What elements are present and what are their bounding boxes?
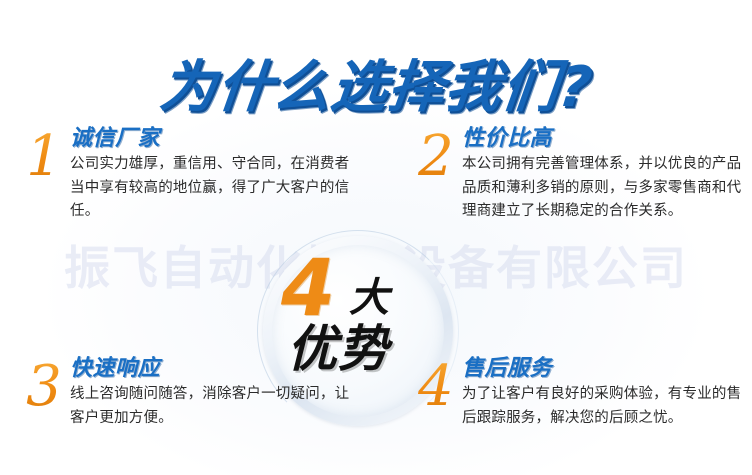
feature-block-3: 3 快速响应 线上咨询随问随答，消除客户一切疑问，让客户更加方便。 <box>22 357 352 430</box>
feature-text-3: 线上咨询随问随答，消除客户一切疑问，让客户更加方便。 <box>70 383 352 430</box>
feature-body-2: 性价比高 本公司拥有完善管理体系，并以优良的产品品质和薄利多销的原则，与多家零售… <box>462 127 744 224</box>
feature-number-4: 4 <box>414 359 458 415</box>
feature-title-4: 售后服务 <box>462 357 744 380</box>
feature-text-2: 本公司拥有完善管理体系，并以优良的产品品质和薄利多销的原则，与多家零售商和代理商… <box>462 153 744 223</box>
feature-title-3: 快速响应 <box>70 357 352 380</box>
feature-body-1: 诚信厂家 公司实力雄厚，重信用、守合同，在消费者当中享有较高的地位赢，得了广大客… <box>70 127 352 224</box>
feature-number-3: 3 <box>22 359 66 415</box>
feature-text-1: 公司实力雄厚，重信用、守合同，在消费者当中享有较高的地位赢，得了广大客户的信任。 <box>70 153 352 223</box>
feature-block-4: 4 售后服务 为了让客户有良好的采购体验，有专业的售后跟踪服务，解决您的后顾之忧… <box>414 357 744 430</box>
company-watermark: 振飞自动化槟榔设备有限公司 <box>0 232 752 298</box>
feature-number-1: 1 <box>22 129 66 185</box>
emblem-number: 4 <box>281 250 335 328</box>
feature-body-4: 售后服务 为了让客户有良好的采购体验，有专业的售后跟踪服务，解决您的后顾之忧。 <box>462 357 744 430</box>
feature-block-2: 2 性价比高 本公司拥有完善管理体系，并以优良的产品品质和薄利多销的原则，与多家… <box>414 127 744 224</box>
page-title: 为什么选择我们? <box>157 60 595 116</box>
emblem-unit: 大 <box>349 278 389 318</box>
feature-body-3: 快速响应 线上咨询随问随答，消除客户一切疑问，让客户更加方便。 <box>70 357 352 430</box>
promo-poster: 振飞自动化槟榔设备有限公司 为什么选择我们? 4 大 优势 1 诚信厂家 公司实… <box>0 0 752 475</box>
feature-title-1: 诚信厂家 <box>70 127 352 150</box>
feature-text-4: 为了让客户有良好的采购体验，有专业的售后跟踪服务，解决您的后顾之忧。 <box>462 383 744 430</box>
feature-number-2: 2 <box>414 129 458 185</box>
poster-title-container: 为什么选择我们? <box>0 22 752 100</box>
feature-title-2: 性价比高 <box>462 127 744 150</box>
feature-block-1: 1 诚信厂家 公司实力雄厚，重信用、守合同，在消费者当中享有较高的地位赢，得了广… <box>22 127 352 224</box>
